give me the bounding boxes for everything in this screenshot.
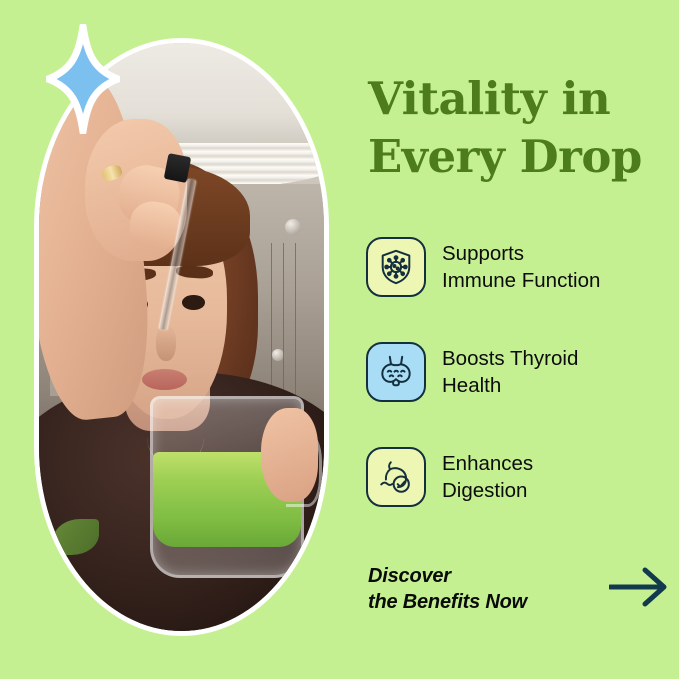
benefit-digestion-line-2: Digestion [442, 479, 527, 502]
benefit-thyroid-line-2: Health [442, 374, 501, 397]
cta-line-2: the Benefits Now [368, 591, 527, 613]
photo-eye-right [182, 295, 206, 310]
shield-virus-icon [366, 237, 426, 297]
benefit-digestion-line-1: Enhances [442, 452, 533, 475]
headline-line-2: Every Drop [368, 128, 678, 186]
thyroid-gland-icon [366, 342, 426, 402]
benefit-item-thyroid: Boosts Thyroid Health [366, 337, 679, 407]
stomach-check-icon [366, 447, 426, 507]
cta-line-1: Discover [368, 565, 451, 587]
product-photo [39, 43, 324, 631]
benefit-label-thyroid: Boosts Thyroid Health [442, 345, 578, 399]
benefit-item-immune: Supports Immune Function [366, 232, 679, 302]
product-photo-card [34, 38, 329, 636]
benefit-label-immune: Supports Immune Function [442, 240, 600, 294]
promo-canvas: Vitality in Every Drop [0, 0, 679, 679]
benefit-immune-line-2: Immune Function [442, 269, 600, 292]
benefit-item-digestion: Enhances Digestion [366, 442, 679, 512]
photo-dropper-cap [164, 153, 191, 183]
cta-block[interactable]: Discover the Benefits Now [368, 563, 679, 615]
cta-label[interactable]: Discover the Benefits Now [368, 563, 527, 615]
benefits-list: Supports Immune Function [366, 232, 679, 547]
photo-nose [156, 325, 176, 360]
arrow-right-icon[interactable] [609, 566, 671, 613]
content-column: Vitality in Every Drop [366, 0, 679, 679]
page-title: Vitality in Every Drop [368, 70, 678, 186]
benefit-thyroid-line-1: Boosts Thyroid [442, 347, 578, 370]
photo-hand-holding-mug [261, 408, 318, 502]
benefit-label-digestion: Enhances Digestion [442, 450, 533, 504]
headline-line-1: Vitality in [368, 72, 610, 125]
benefit-immune-line-1: Supports [442, 242, 524, 265]
